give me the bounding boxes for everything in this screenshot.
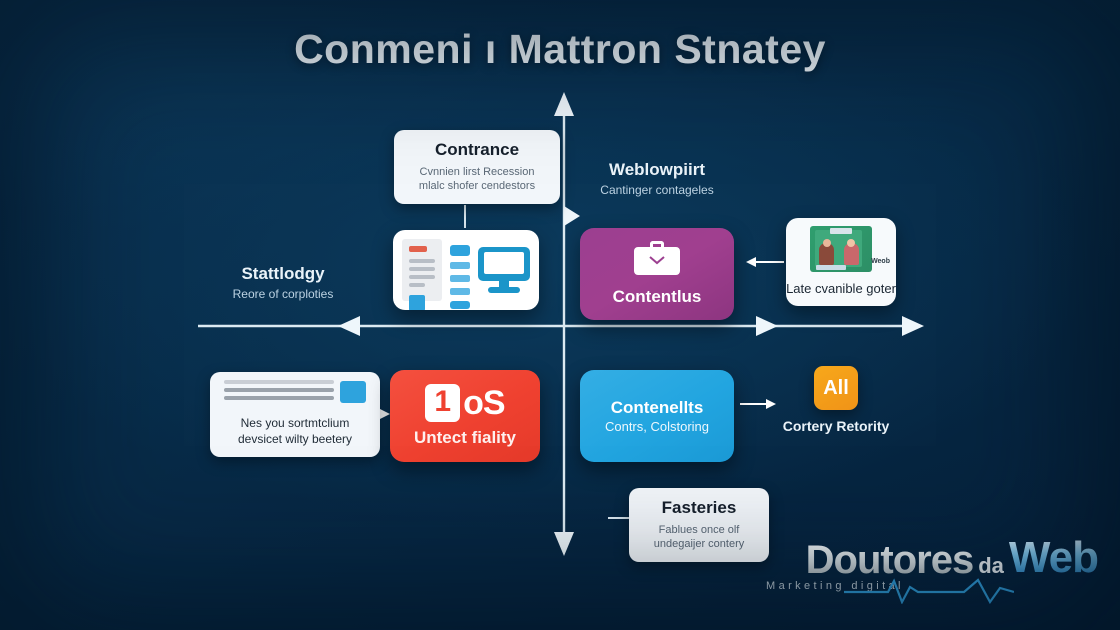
node-blue-tile[interactable]: Contenellts Contrs, Colstoring xyxy=(580,370,734,462)
document-monitor-illustration xyxy=(402,239,530,301)
all-badge: All xyxy=(814,366,858,410)
top-callout-sub: Cvnnien lirst Recession mlalc shofer cen… xyxy=(406,165,548,195)
node-bottom-callout[interactable]: Fasteries Fablues once olf undegaijer co… xyxy=(629,488,769,562)
horizontal-right-arrow-end xyxy=(902,316,924,336)
all-tile-label: Cortery Retority xyxy=(780,418,892,434)
node-photo-card[interactable]: Weob Late cvanible goter xyxy=(786,218,896,306)
arrow-left-card-to-red-tile xyxy=(380,409,390,419)
pulse-line-icon xyxy=(844,578,1014,604)
ios-lockup: 1 oS xyxy=(425,384,504,422)
arrow-photo-card-to-purple-tile xyxy=(746,257,756,267)
purple-tile-title: Contentlus xyxy=(613,287,702,307)
top-callout-title: Contrance xyxy=(406,140,548,160)
node-purple-tile[interactable]: Contentlus xyxy=(580,228,734,320)
node-document-card[interactable] xyxy=(393,230,539,310)
brand-logo[interactable]: Doutores da Web Marketing digital xyxy=(758,536,1098,606)
all-badge-text: All xyxy=(823,378,849,398)
monitor-icon xyxy=(478,247,530,293)
arrow-blue-tile-to-all-tile xyxy=(766,399,776,409)
node-top-callout[interactable]: Contrance Cvnnien lirst Recession mlalc … xyxy=(394,130,560,204)
red-tile-badge-suffix: oS xyxy=(463,386,504,420)
horizontal-right-arrow-mid xyxy=(756,316,778,336)
blue-tile-sub: Contrs, Colstoring xyxy=(605,419,709,434)
horizontal-left-arrow xyxy=(338,316,360,336)
bottom-callout-title: Fasteries xyxy=(641,498,757,518)
left-card-sub: Nes you sortmtclium devsicet wilty beete… xyxy=(222,415,368,447)
node-all-tile[interactable]: All Cortery Retority xyxy=(780,366,892,434)
node-red-tile[interactable]: 1 oS Untect fiality xyxy=(390,370,540,462)
bottom-callout-sub: Fablues once olf undegaijer contery xyxy=(641,523,757,553)
logo-word-2: da xyxy=(978,555,1004,577)
vertical-up-arrow xyxy=(554,92,574,116)
left-label-title: Stattlodgy xyxy=(205,264,361,284)
photo-thumbnail xyxy=(810,226,872,272)
photo-card-side-text: Weob xyxy=(871,258,890,265)
vertical-down-arrow xyxy=(554,532,574,556)
logo-word-1: Doutores xyxy=(806,540,974,580)
document-text-column xyxy=(402,239,442,301)
red-tile-sub: Untect fiality xyxy=(414,428,516,448)
diagram-canvas: Conmeni ı Mattron Stnatey Contrance xyxy=(0,0,1120,630)
top-right-label-title: Weblowpiirt xyxy=(578,160,736,180)
vertical-side-marker xyxy=(564,206,580,226)
left-label-sub: Reore of corploties xyxy=(205,287,361,303)
blue-tile-title: Contenellts xyxy=(611,398,704,418)
left-card-accent-block xyxy=(340,381,366,403)
red-tile-badge: 1 xyxy=(425,384,460,422)
top-right-label-sub: Cantinger contageles xyxy=(578,183,736,199)
document-thumb xyxy=(409,295,425,310)
logo-word-3: Web xyxy=(1009,536,1098,580)
node-left-card[interactable]: Nes you sortmtclium devsicet wilty beete… xyxy=(210,372,380,457)
node-left-label[interactable]: Stattlodgy Reore of corploties xyxy=(205,264,361,303)
photo-card-label: Late cvanible goter xyxy=(786,281,896,296)
node-top-right-label[interactable]: Weblowpiirt Cantinger contageles xyxy=(578,160,736,199)
document-blue-column xyxy=(450,239,470,301)
briefcase-icon xyxy=(634,241,680,275)
